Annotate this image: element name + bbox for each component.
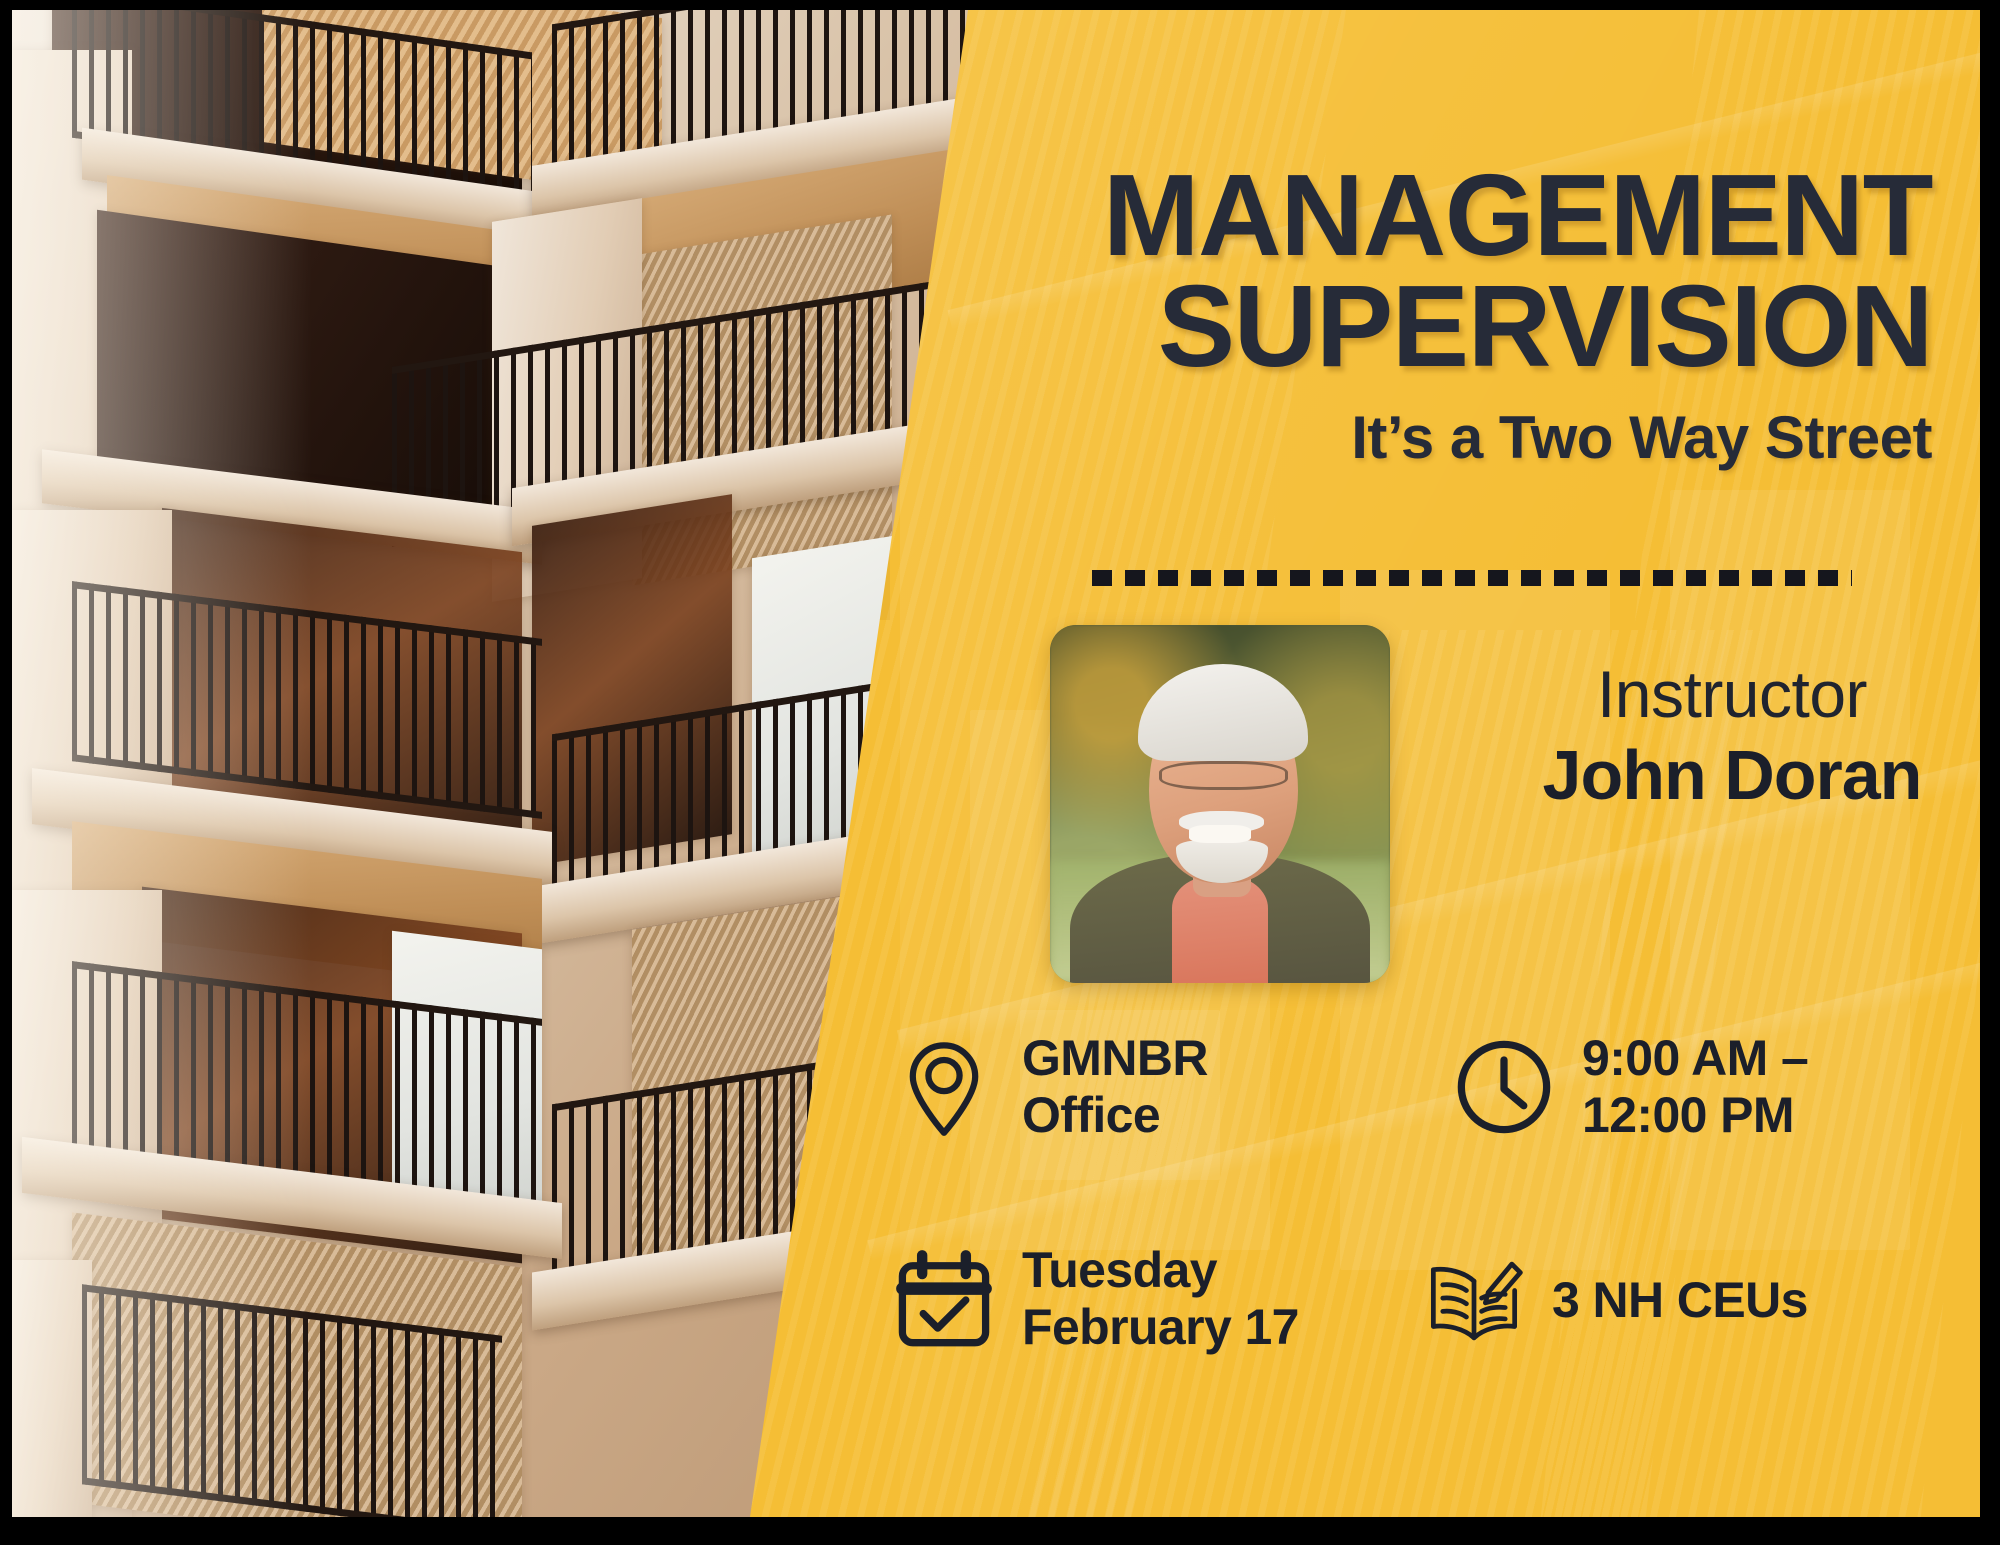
flyer-canvas: MANAGEMENT SUPERVISION It’s a Two Way St… — [12, 10, 1980, 1517]
detail-location-text: GMNBR Office — [1022, 1030, 1208, 1144]
instructor-name: John Doran — [1512, 736, 1952, 816]
detail-ceus: 3 NH CEUs — [1422, 1248, 1808, 1352]
subtitle: It’s a Two Way Street — [1022, 403, 1932, 472]
title-line-1: MANAGEMENT — [1022, 160, 1932, 271]
location-pin-icon — [892, 1035, 996, 1139]
detail-time: 9:00 AM – 12:00 PM — [1452, 1030, 1808, 1144]
instructor-headshot — [1050, 625, 1390, 983]
detail-ceus-text: 3 NH CEUs — [1552, 1272, 1808, 1329]
instructor-text: Instructor John Doran — [1512, 658, 1952, 816]
dashed-divider — [1092, 570, 1852, 586]
calendar-check-icon — [892, 1247, 996, 1351]
headshot-glasses — [1159, 761, 1288, 790]
detail-time-text: 9:00 AM – 12:00 PM — [1582, 1030, 1808, 1144]
event-details-grid: GMNBR Office 9:00 AM – 12:00 PM — [892, 1030, 1952, 1460]
instructor-row: Instructor John Doran — [1032, 620, 1952, 1000]
flyer-content: MANAGEMENT SUPERVISION It’s a Two Way St… — [12, 10, 1980, 1517]
title-block: MANAGEMENT SUPERVISION It’s a Two Way St… — [1022, 160, 1932, 472]
book-pen-icon — [1422, 1248, 1526, 1352]
detail-date-text: Tuesday February 17 — [1022, 1242, 1299, 1356]
clock-icon — [1452, 1035, 1556, 1139]
detail-date: Tuesday February 17 — [892, 1242, 1299, 1356]
title-line-2: SUPERVISION — [1022, 271, 1932, 382]
headshot-smile — [1189, 825, 1250, 843]
instructor-label: Instructor — [1512, 658, 1952, 732]
detail-location: GMNBR Office — [892, 1030, 1208, 1144]
